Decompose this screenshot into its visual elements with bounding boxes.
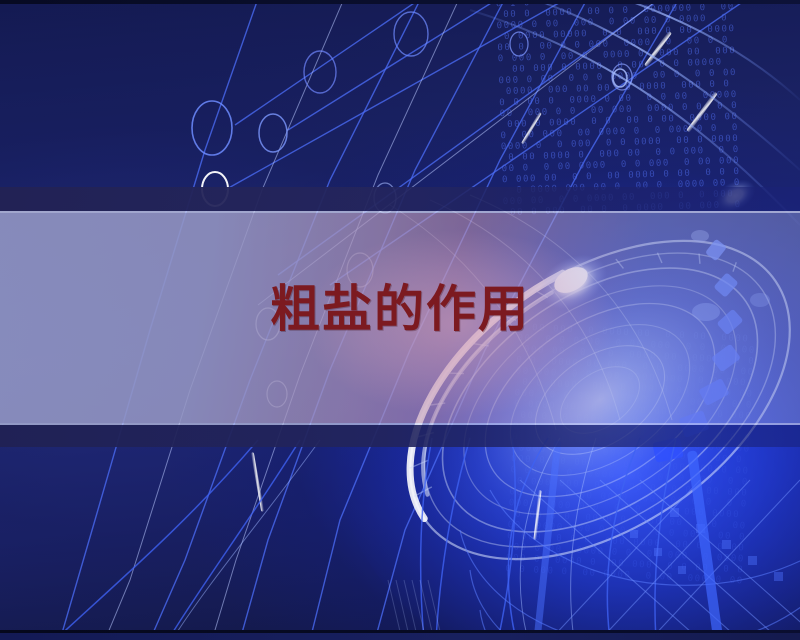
slide-title: 粗盐的作用 [0,278,800,340]
presentation-slide: 0 1 0 00 00 0 00 0100 00 0000 00 0 0000 … [0,0,800,640]
band-top-dark-bar [0,187,800,211]
bottom-edge-strip [0,633,800,640]
band-bottom-dark-bar [0,425,800,447]
top-trim-line [0,0,800,4]
